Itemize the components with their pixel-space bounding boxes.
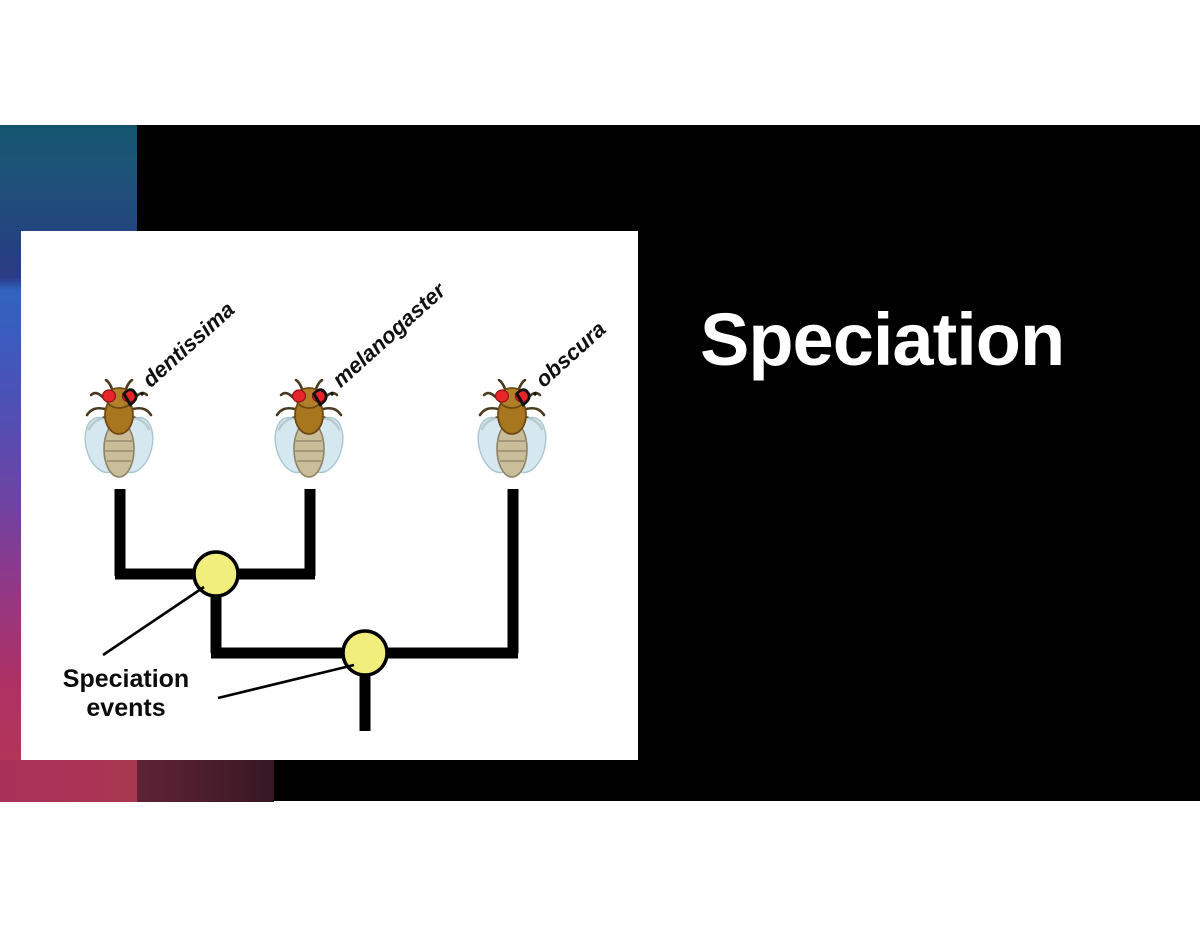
page-title: Speciation	[700, 296, 1120, 384]
caption-line-2: events	[31, 694, 221, 723]
caption-line-1: Speciation	[31, 665, 221, 694]
bottom-gradient-accent-bar-mid	[137, 760, 274, 802]
slide-canvas: Speciation	[0, 0, 1200, 927]
bottom-gradient-accent-bar-left	[0, 760, 137, 802]
phylogeny-figure: D. dentissima D. melanogaster D. obscura…	[21, 231, 638, 760]
speciation-events-caption: Speciation events	[31, 665, 221, 723]
